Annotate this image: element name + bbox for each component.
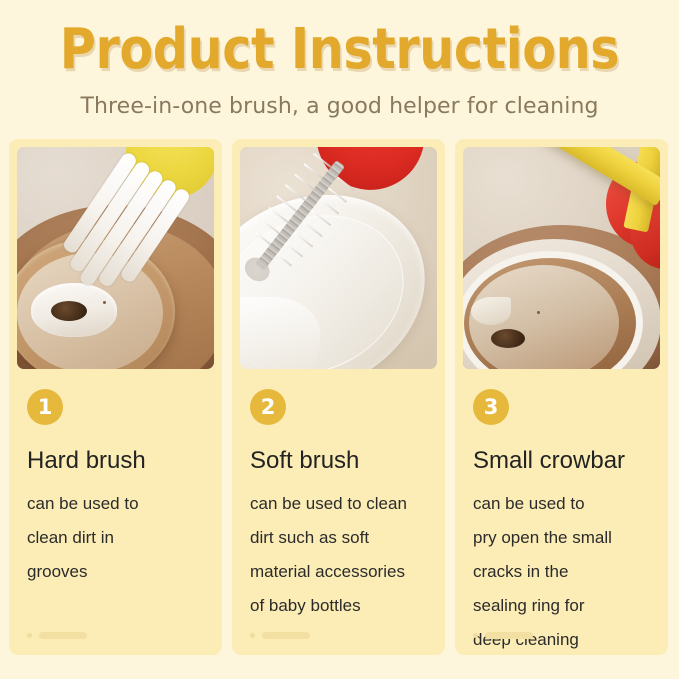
spout-hole-icon — [491, 329, 525, 348]
filament-icon — [261, 219, 280, 234]
step-heading-1: Hard brush — [27, 447, 204, 475]
lid-notch-icon — [471, 297, 511, 325]
page-subtitle: Three-in-one brush, a good helper for cl… — [0, 94, 679, 119]
step-heading-2: Soft brush — [250, 447, 427, 475]
filament-icon — [293, 231, 313, 247]
caption-2: 2 Soft brush can be used to clean dirt s… — [240, 369, 437, 623]
page-title: Product Instructions — [41, 22, 639, 78]
filament-icon — [255, 232, 271, 245]
step-number-badge-3: 3 — [473, 389, 509, 425]
instruction-card-2[interactable]: 2 Soft brush can be used to clean dirt s… — [232, 139, 445, 655]
filament-icon — [294, 174, 314, 190]
step-description-2: can be used to clean dirt such as soft m… — [250, 487, 427, 623]
footer-dot-icon — [250, 633, 255, 638]
filament-icon — [302, 220, 323, 237]
footer-bar-icon — [485, 632, 533, 639]
filament-icon — [328, 187, 347, 203]
caption-3: 3 Small crowbar can be used to pry open … — [463, 369, 660, 657]
footer-bar-icon — [39, 632, 87, 639]
filament-icon — [303, 163, 322, 179]
card-footer-decoration-2 — [250, 632, 310, 639]
product-photo-crowbar — [463, 147, 660, 369]
header: Product Instructions Three-in-one brush,… — [0, 0, 679, 119]
footer-dot-icon — [473, 633, 478, 638]
instruction-card-3[interactable]: 3 Small crowbar can be used to pry open … — [455, 139, 668, 655]
filament-icon — [276, 195, 297, 212]
instruction-card-list: 1 Hard brush can be used to clean dirt i… — [9, 139, 670, 655]
filament-icon — [285, 184, 306, 201]
filament-icon — [268, 207, 288, 223]
product-photo-soft-brush — [240, 147, 437, 369]
filament-icon — [311, 209, 332, 226]
vent-hole-icon — [537, 311, 540, 314]
filament-icon — [319, 198, 339, 214]
caption-1: 1 Hard brush can be used to clean dirt i… — [17, 369, 214, 589]
product-photo-hard-brush — [17, 147, 214, 369]
infographic-page: Product Instructions Three-in-one brush,… — [0, 0, 679, 679]
instruction-card-1[interactable]: 1 Hard brush can be used to clean dirt i… — [9, 139, 222, 655]
footer-dot-icon — [27, 633, 32, 638]
card-footer-decoration-3 — [473, 632, 533, 639]
step-heading-3: Small crowbar — [473, 447, 650, 475]
step-number-badge-2: 2 — [250, 389, 286, 425]
card-footer-decoration-1 — [27, 632, 87, 639]
filament-icon — [285, 242, 304, 257]
step-number-badge-1: 1 — [27, 389, 63, 425]
step-description-1: can be used to clean dirt in grooves — [27, 487, 204, 589]
filament-icon — [276, 253, 292, 266]
footer-bar-icon — [262, 632, 310, 639]
